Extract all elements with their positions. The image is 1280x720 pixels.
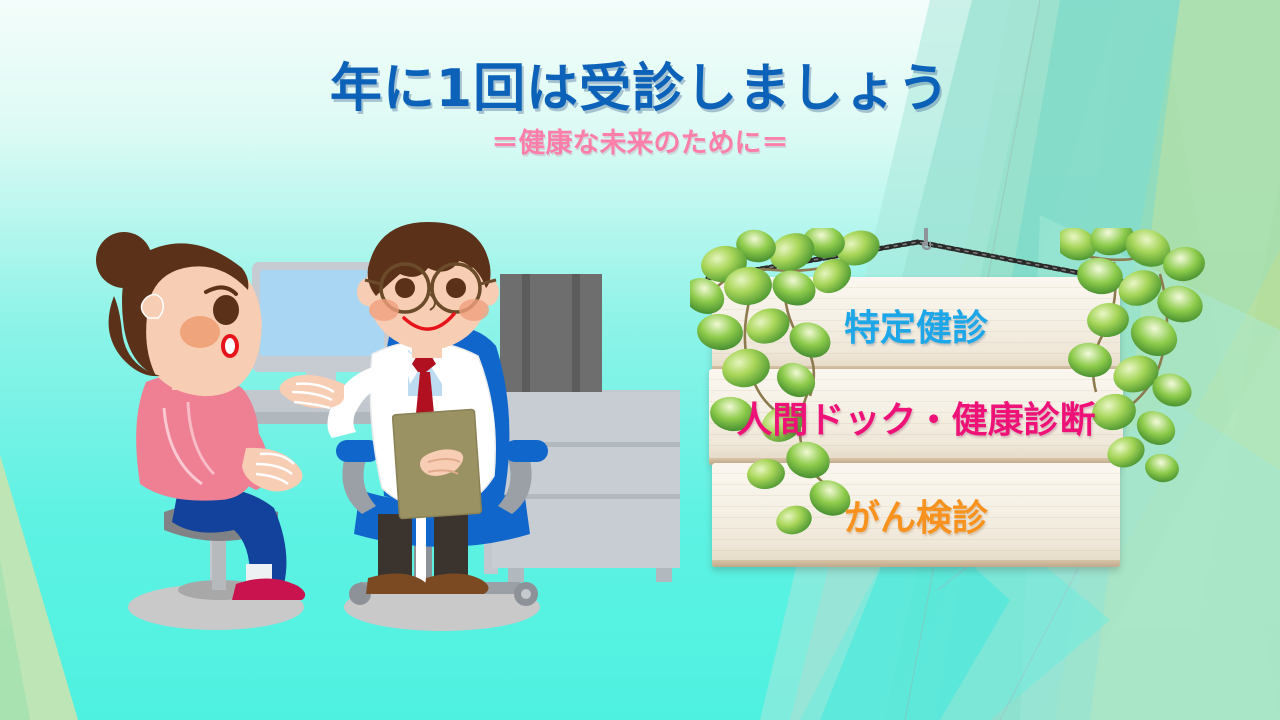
signboard-label-gan-kenshin: がん検診 bbox=[712, 489, 1120, 541]
page-subtitle: ＝健康な未来のために＝ bbox=[0, 121, 1280, 160]
poster-canvas: 年に1回は受診しましょう ＝健康な未来のために＝ bbox=[0, 0, 1280, 720]
signboard-plank-3[interactable]: がん検診 bbox=[712, 463, 1120, 567]
doctor-consultation-illustration bbox=[60, 222, 680, 642]
signboard-plank-1[interactable]: 特定健診 bbox=[712, 277, 1120, 373]
page-title: 年に1回は受診しましょう bbox=[0, 62, 1280, 117]
sign-hook-icon bbox=[921, 228, 931, 250]
signboard-label-ningen-dock: 人間ドック・健康診断 bbox=[709, 391, 1123, 443]
signboard-plank-2[interactable]: 人間ドック・健康診断 bbox=[709, 369, 1123, 465]
poster-title-block: 年に1回は受診しましょう ＝健康な未来のために＝ bbox=[0, 62, 1280, 160]
signboard-label-tokutei-kenshin: 特定健診 bbox=[712, 299, 1120, 351]
signboard: 特定健診 人間ドック・健康診断 がん検診 bbox=[712, 277, 1120, 571]
